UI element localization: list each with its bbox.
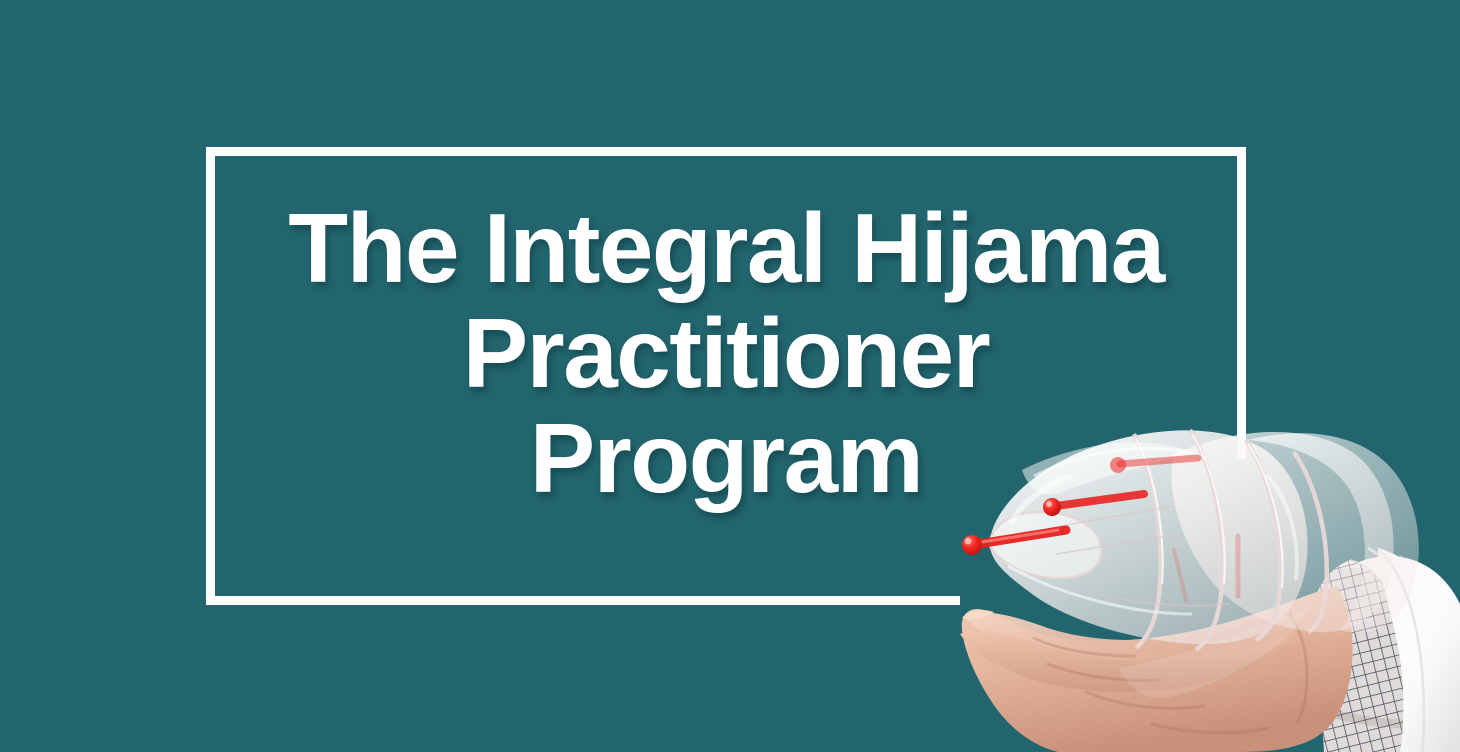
slide-canvas: The Integral Hijama Practitioner Program [0,0,1460,752]
page-title-line-2: Practitioner [206,301,1246,406]
frame-border-bottom [206,596,960,605]
page-title-line-1: The Integral Hijama [206,196,1246,301]
hand-holding-cupping-set-image [938,418,1460,752]
frame-border-top [206,147,1246,156]
cupping-cups-stack [989,430,1419,650]
